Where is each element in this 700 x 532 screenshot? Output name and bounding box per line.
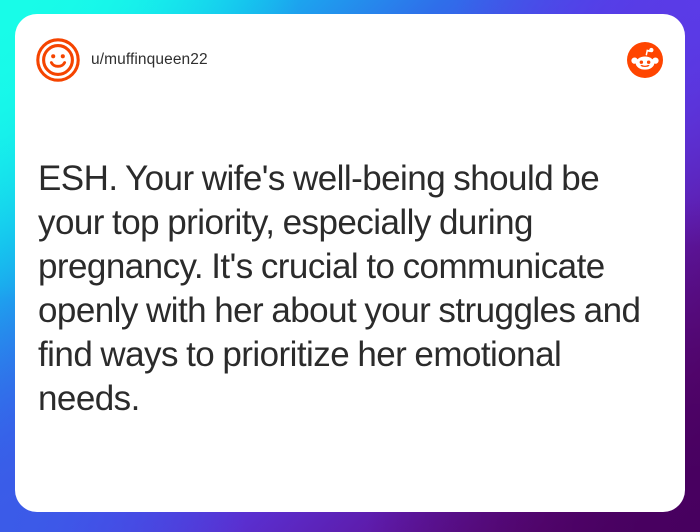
author-username: u/muffinqueen22 — [91, 52, 208, 68]
smiley-face-avatar-icon[interactable] — [36, 38, 80, 82]
author-block[interactable]: u/muffinqueen22 — [36, 38, 627, 82]
card-header: u/muffinqueen22 — [15, 14, 685, 106]
comment-text: ESH. Your wife's well-being should be yo… — [38, 157, 668, 421]
reddit-comment-card: u/muffinqueen22 ESH. Your wi — [15, 14, 685, 512]
comment-body: ESH. Your wife's well-being should be yo… — [38, 157, 668, 421]
gradient-backdrop: u/muffinqueen22 ESH. Your wi — [0, 0, 700, 532]
reddit-snoo-icon[interactable] — [627, 42, 663, 78]
